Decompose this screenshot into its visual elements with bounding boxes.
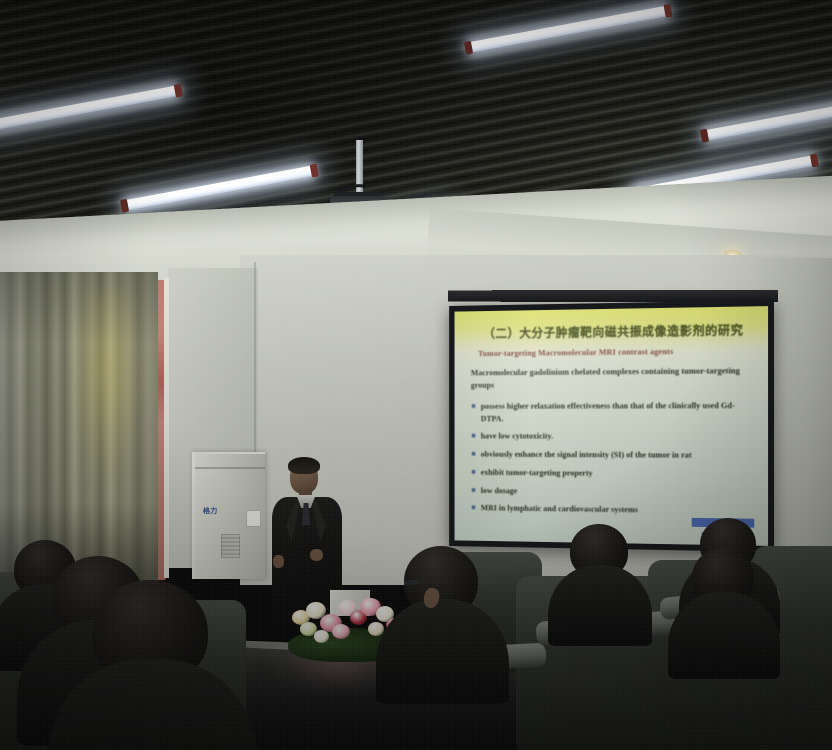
slide-bullet-list: possess higher relaxation effectiveness …: [471, 399, 754, 518]
ac-brand-logo: 格力: [203, 506, 218, 516]
slide-bullet-item: exhibit tumor-targeting property: [471, 466, 754, 480]
ac-panel-seam: [195, 467, 265, 469]
presenter-hand-right: [310, 549, 323, 561]
slide-bullet-item: have low cytotoxicity.: [471, 430, 754, 443]
slide-title-chinese: （二）大分子肿瘤靶向磁共振成像造影剂的研究: [484, 319, 755, 341]
slide-bullet-item: obviously enhance the signal intensity (…: [471, 448, 754, 462]
presenter-hair: [288, 457, 320, 474]
presenter-hand-left: [273, 555, 284, 568]
slide-content: （二）大分子肿瘤靶向磁共振成像造影剂的研究 Tumor-targeting Ma…: [455, 306, 769, 546]
slide-bullet-item: MRI in lymphatic and cardiovascular syst…: [471, 502, 754, 518]
projection-screen-surface: （二）大分子肿瘤靶向磁共振成像造影剂的研究 Tumor-targeting Ma…: [455, 306, 769, 546]
conference-room-photo: 格力 （二）大分子肿瘤靶向磁共振成像造影剂的研究 Tumor-targeting…: [0, 0, 832, 750]
flower-bloom: [314, 630, 329, 643]
slide-subtitle-english: Tumor-targeting Macromolecular MRI contr…: [478, 345, 754, 358]
slide-bullet-item: low dosage: [471, 484, 754, 499]
flower-bloom: [332, 624, 350, 639]
audience-shoulders-far-right: [668, 592, 780, 679]
wall-accent-edge: [164, 278, 169, 578]
projection-screen-frame: （二）大分子肿瘤靶向磁共振成像造影剂的研究 Tumor-targeting Ma…: [449, 300, 774, 552]
slide-paragraph: Macromolecular gadolinium chelated compl…: [471, 364, 754, 392]
floor-standing-air-conditioner: 格力: [192, 452, 265, 579]
slide-bullet-item: possess higher relaxation effectiveness …: [471, 399, 754, 424]
ac-vent-grille: [221, 534, 240, 558]
